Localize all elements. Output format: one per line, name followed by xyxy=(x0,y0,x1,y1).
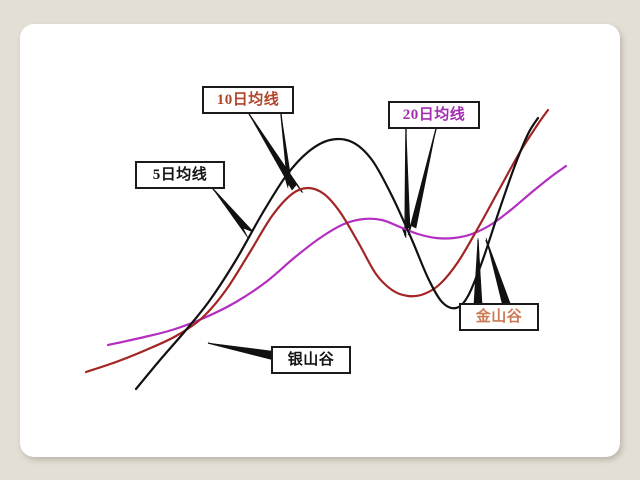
callout-ma10-text: 10日均线 xyxy=(217,93,280,108)
callout-ma10: 10日均线 xyxy=(202,86,294,114)
callout-silver-valley: 银山谷 xyxy=(271,346,351,374)
callout-ma20: 20日均线 xyxy=(388,101,480,129)
screenshot-stage: 5日均线 10日均线 20日均线 银山谷 金山谷 xyxy=(0,0,640,480)
leader-ma5 xyxy=(213,189,253,238)
moving-average-chart xyxy=(0,0,640,480)
leader-silver-valley xyxy=(208,343,271,359)
callout-silver-valley-text: 银山谷 xyxy=(288,353,335,368)
leader-ma10 xyxy=(249,114,303,193)
leader-ma20 xyxy=(402,129,436,238)
callout-ma20-text: 20日均线 xyxy=(403,108,466,123)
callout-golden-valley-text: 金山谷 xyxy=(476,310,523,325)
callout-ma5-text: 5日均线 xyxy=(153,168,208,183)
callout-golden-valley: 金山谷 xyxy=(459,303,539,331)
callout-ma5: 5日均线 xyxy=(135,161,225,189)
